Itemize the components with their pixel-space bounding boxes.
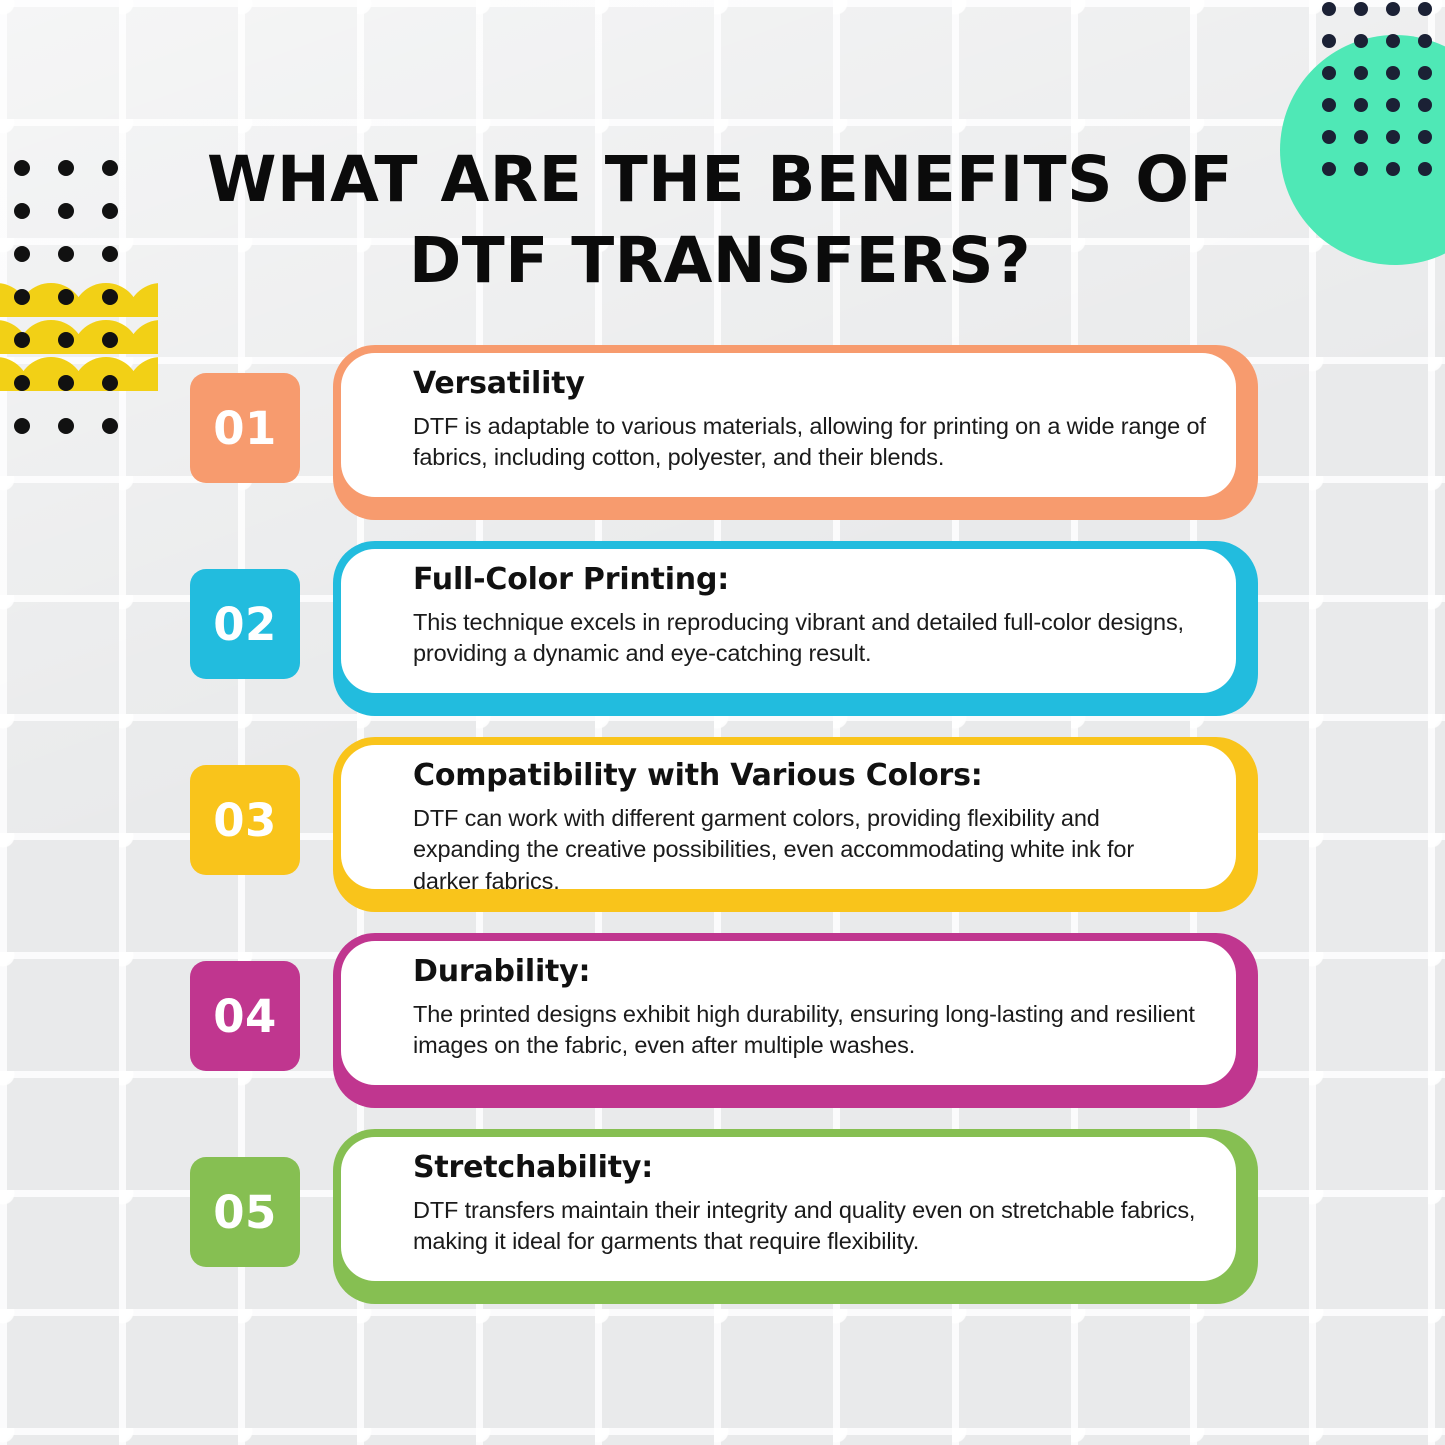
decorative-dot (1386, 34, 1400, 48)
benefit-title: Compatibility with Various Colors: (413, 759, 1206, 792)
benefit-card[interactable]: VersatilityDTF is adaptable to various m… (341, 353, 1236, 497)
benefit-description: DTF transfers maintain their integrity a… (413, 1195, 1206, 1258)
benefit-card[interactable]: Compatibility with Various Colors:DTF ca… (341, 745, 1236, 889)
decorative-dot (58, 160, 74, 176)
benefit-number-badge: 04 (190, 961, 300, 1071)
benefit-card[interactable]: Full-Color Printing:This technique excel… (341, 549, 1236, 693)
benefit-number-badge: 03 (190, 765, 300, 875)
decorative-dot (1418, 130, 1432, 144)
decorative-dot (58, 246, 74, 262)
benefit-description: DTF can work with different garment colo… (413, 803, 1206, 897)
benefit-title: Full-Color Printing: (413, 563, 1206, 596)
page-title: WHAT ARE THE BENEFITS OF DTF TRANSFERS? (160, 140, 1280, 301)
decorative-dot (1418, 66, 1432, 80)
benefit-number: 02 (213, 598, 277, 651)
benefit-description: This technique excels in reproducing vib… (413, 607, 1206, 670)
benefit-number: 05 (213, 1186, 277, 1239)
decorative-dot (58, 289, 74, 305)
benefit-description: DTF is adaptable to various materials, a… (413, 411, 1206, 474)
benefit-number: 03 (213, 794, 277, 847)
decorative-dot (58, 203, 74, 219)
decorative-dot (102, 160, 118, 176)
benefit-number-badge: 01 (190, 373, 300, 483)
benefit-number-badge: 02 (190, 569, 300, 679)
decorative-dot (14, 289, 30, 305)
decorative-dot (14, 246, 30, 262)
decorative-dot (14, 160, 30, 176)
benefit-card[interactable]: Stretchability:DTF transfers maintain th… (341, 1137, 1236, 1281)
decorative-dot (1418, 34, 1432, 48)
decorative-dot (1354, 34, 1368, 48)
decorative-dot (1322, 98, 1336, 112)
benefit-title: Durability: (413, 955, 1206, 988)
decorative-dot (1386, 98, 1400, 112)
decorative-dot (1322, 162, 1336, 176)
decorative-dot (1322, 2, 1336, 16)
decorative-dot (1354, 130, 1368, 144)
decorative-dot (1386, 66, 1400, 80)
decorative-dot (1418, 2, 1432, 16)
benefit-description: The printed designs exhibit high durabil… (413, 999, 1206, 1062)
decorative-dot (1418, 98, 1432, 112)
benefit-number-badge: 05 (190, 1157, 300, 1267)
decorative-dot (1322, 130, 1336, 144)
benefit-row: Stretchability:DTF transfers maintain th… (0, 1129, 1445, 1325)
decorative-dot (14, 203, 30, 219)
infographic-canvas: WHAT ARE THE BENEFITS OF DTF TRANSFERS? … (0, 0, 1445, 1445)
benefit-number: 01 (213, 402, 277, 455)
decorative-dot (1354, 2, 1368, 16)
decorative-dot (1418, 162, 1432, 176)
decorative-dot (1386, 162, 1400, 176)
decorative-dot (1322, 34, 1336, 48)
benefit-number: 04 (213, 990, 277, 1043)
decorative-dot (1386, 130, 1400, 144)
benefit-title: Versatility (413, 367, 1206, 400)
benefit-card[interactable]: Durability:The printed designs exhibit h… (341, 941, 1236, 1085)
benefit-row: Compatibility with Various Colors:DTF ca… (0, 737, 1445, 933)
decorative-dot (102, 289, 118, 305)
decorative-dot (1386, 2, 1400, 16)
benefit-title: Stretchability: (413, 1151, 1206, 1184)
decorative-dot (102, 203, 118, 219)
decorative-dot (1354, 98, 1368, 112)
benefit-row: VersatilityDTF is adaptable to various m… (0, 345, 1445, 541)
decorative-dot (1322, 66, 1336, 80)
decorative-dot (102, 246, 118, 262)
benefit-row: Durability:The printed designs exhibit h… (0, 933, 1445, 1129)
decorative-arch (127, 283, 158, 317)
decorative-dot (1354, 162, 1368, 176)
benefits-list: VersatilityDTF is adaptable to various m… (0, 345, 1445, 1325)
benefit-row: Full-Color Printing:This technique excel… (0, 541, 1445, 737)
decorative-dot (1354, 66, 1368, 80)
